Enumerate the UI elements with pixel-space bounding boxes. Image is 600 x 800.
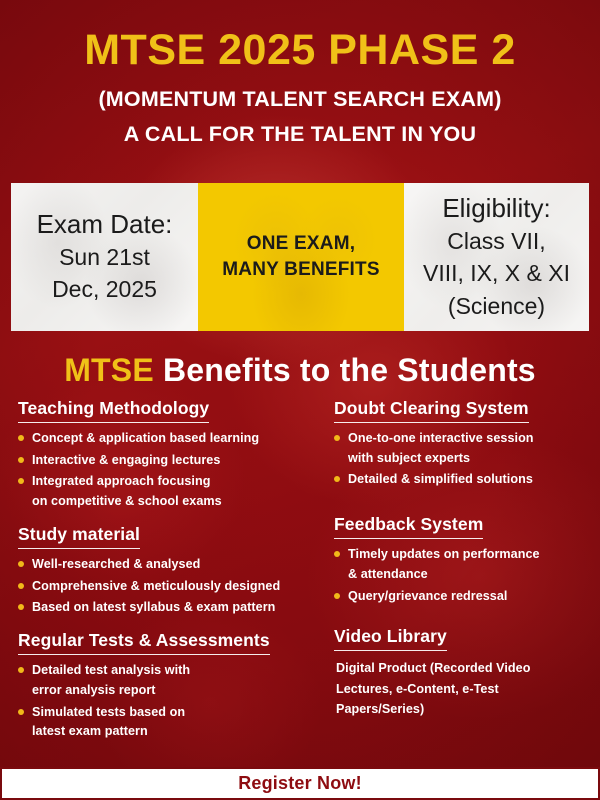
list-item-text-continued: error analysis report — [32, 682, 318, 699]
description-line: Digital Product (Recorded Video — [336, 658, 600, 678]
list-item: Well-researched & analysed — [18, 556, 318, 573]
list-item-text: Query/grievance redressal — [348, 589, 507, 603]
list-item: Detailed & simplified solutions — [334, 471, 600, 488]
section-title: Study material — [18, 524, 140, 549]
bullet-dot-icon — [18, 457, 24, 463]
video-library-description: Digital Product (Recorded Video Lectures… — [334, 658, 600, 719]
list-item-text: One-to-one interactive session — [348, 431, 534, 445]
bullet-dot-icon — [334, 476, 340, 482]
description-line: Lectures, e-Content, e-Test — [336, 679, 600, 699]
list-item-text: Comprehensive & meticulously designed — [32, 579, 280, 593]
register-now-label: Register Now! — [238, 773, 362, 794]
list-item-text: Integrated approach focusing — [32, 474, 210, 488]
highlight-line2: MANY BENEFITS — [222, 257, 379, 283]
list-item: Timely updates on performance & attendan… — [334, 546, 600, 582]
exam-date-line1: Sun 21st — [37, 243, 173, 272]
bullet-dot-icon — [334, 435, 340, 441]
eligibility-line1: Class VII, — [423, 227, 570, 256]
benefits-heading-highlight: MTSE — [64, 352, 154, 388]
bullet-dot-icon — [18, 435, 24, 441]
poster-content: MTSE 2025 PHASE 2 (MOMENTUM TALENT SEARC… — [0, 0, 600, 800]
list-item-text: Detailed test analysis with — [32, 663, 190, 677]
bullet-dot-icon — [18, 604, 24, 610]
benefits-right-column: Doubt Clearing System One-to-one interac… — [318, 398, 600, 745]
info-band: Exam Date: Sun 21st Dec, 2025 ONE EXAM, … — [11, 183, 589, 331]
benefits-heading: MTSE Benefits to the Students — [0, 352, 600, 389]
bullet-list: Well-researched & analysed Comprehensive… — [18, 556, 318, 616]
section-title: Video Library — [334, 626, 447, 651]
bullet-dot-icon — [334, 593, 340, 599]
bullet-list: Timely updates on performance & attendan… — [334, 546, 600, 604]
list-item: Detailed test analysis with error analys… — [18, 662, 318, 698]
bullet-list: Detailed test analysis with error analys… — [18, 662, 318, 740]
poster-title: MTSE 2025 PHASE 2 — [0, 28, 600, 73]
section-study-material: Study material Well-researched & analyse… — [18, 524, 318, 616]
exam-date-line2: Dec, 2025 — [37, 275, 173, 304]
poster-header: MTSE 2025 PHASE 2 (MOMENTUM TALENT SEARC… — [0, 0, 600, 148]
register-now-bar[interactable]: Register Now! — [0, 767, 600, 800]
list-item-text: Timely updates on performance — [348, 547, 540, 561]
benefits-heading-rest: Benefits to the Students — [163, 352, 536, 388]
section-title: Feedback System — [334, 514, 483, 539]
section-teaching-methodology: Teaching Methodology Concept & applicati… — [18, 398, 318, 510]
list-item-text: Concept & application based learning — [32, 431, 259, 445]
list-item: One-to-one interactive session with subj… — [334, 430, 600, 466]
description-line: Papers/Series) — [336, 699, 600, 719]
list-item: Query/grievance redressal — [334, 588, 600, 605]
list-item-text: Detailed & simplified solutions — [348, 472, 533, 486]
list-item-text-continued: on competitive & school exams — [32, 493, 318, 510]
exam-date-label: Exam Date: — [37, 209, 173, 240]
list-item: Concept & application based learning — [18, 430, 318, 447]
bullet-list: One-to-one interactive session with subj… — [334, 430, 600, 488]
bullet-list: Concept & application based learning Int… — [18, 430, 318, 510]
list-item: Simulated tests based on latest exam pat… — [18, 704, 318, 740]
section-title: Teaching Methodology — [18, 398, 209, 423]
list-item-text-continued: with subject experts — [348, 450, 600, 467]
eligibility-panel: Eligibility: Class VII, VIII, IX, X & XI… — [404, 183, 589, 331]
section-feedback-system: Feedback System Timely updates on perfor… — [334, 514, 600, 604]
list-item: Comprehensive & meticulously designed — [18, 578, 318, 595]
section-video-library: Video Library Digital Product (Recorded … — [334, 626, 600, 719]
bullet-dot-icon — [18, 709, 24, 715]
section-regular-tests: Regular Tests & Assessments Detailed tes… — [18, 630, 318, 740]
bullet-dot-icon — [18, 583, 24, 589]
bullet-dot-icon — [334, 551, 340, 557]
bullet-dot-icon — [18, 561, 24, 567]
poster-tagline: A CALL FOR THE TALENT IN YOU — [0, 122, 600, 148]
list-item-text: Well-researched & analysed — [32, 557, 200, 571]
section-title: Regular Tests & Assessments — [18, 630, 270, 655]
highlight-panel: ONE EXAM, MANY BENEFITS — [198, 183, 404, 331]
exam-date-panel: Exam Date: Sun 21st Dec, 2025 — [11, 183, 198, 331]
list-item: Integrated approach focusing on competit… — [18, 473, 318, 509]
benefits-columns: Teaching Methodology Concept & applicati… — [0, 398, 600, 745]
list-item-text: Interactive & engaging lectures — [32, 453, 220, 467]
section-title: Doubt Clearing System — [334, 398, 529, 423]
poster-root: MTSE 2025 PHASE 2 (MOMENTUM TALENT SEARC… — [0, 0, 600, 800]
highlight-line1: ONE EXAM, — [222, 231, 379, 257]
list-item-text-continued: latest exam pattern — [32, 723, 318, 740]
list-item: Interactive & engaging lectures — [18, 452, 318, 469]
list-item-text-continued: & attendance — [348, 566, 600, 583]
eligibility-line2: VIII, IX, X & XI — [423, 259, 570, 288]
eligibility-line3: (Science) — [423, 292, 570, 321]
benefits-left-column: Teaching Methodology Concept & applicati… — [0, 398, 318, 745]
bullet-dot-icon — [18, 667, 24, 673]
list-item: Based on latest syllabus & exam pattern — [18, 599, 318, 616]
poster-subtitle: (MOMENTUM TALENT SEARCH EXAM) — [0, 87, 600, 113]
list-item-text: Simulated tests based on — [32, 705, 185, 719]
section-doubt-clearing: Doubt Clearing System One-to-one interac… — [334, 398, 600, 488]
list-item-text: Based on latest syllabus & exam pattern — [32, 600, 275, 614]
eligibility-label: Eligibility: — [423, 193, 570, 224]
bullet-dot-icon — [18, 478, 24, 484]
